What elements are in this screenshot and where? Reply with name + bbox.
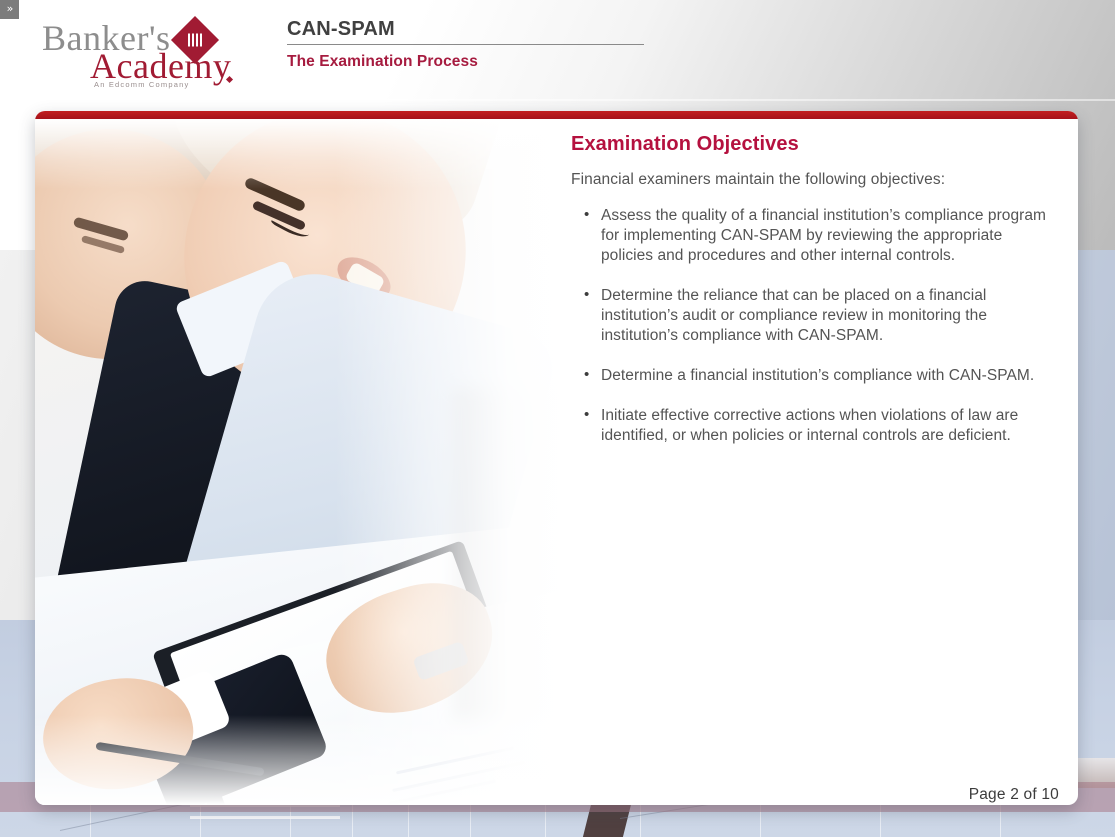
- list-item: Initiate effective corrective actions wh…: [571, 406, 1051, 446]
- objectives-list: Assess the quality of a financial instit…: [571, 206, 1051, 446]
- page-header: Banker's Academy An Edcomm Company CAN-S…: [0, 0, 1115, 100]
- content-heading: Examination Objectives: [571, 133, 1051, 156]
- page-indicator: Page 2 of 10: [969, 786, 1059, 804]
- logo-tagline: An Edcomm Company: [94, 80, 189, 89]
- content-intro-text: Financial examiners maintain the followi…: [571, 171, 1051, 189]
- course-title: CAN-SPAM: [287, 18, 647, 41]
- slide-photograph: [35, 119, 575, 805]
- slide-content: Examination Objectives Financial examine…: [571, 133, 1051, 466]
- title-divider: [287, 44, 644, 45]
- list-item: Determine the reliance that can be place…: [571, 286, 1051, 346]
- list-item: Determine a financial institution’s comp…: [571, 366, 1051, 386]
- bankers-academy-logo: Banker's Academy An Edcomm Company: [42, 17, 242, 89]
- header-title-group: CAN-SPAM The Examination Process: [287, 18, 647, 71]
- expand-panel-icon[interactable]: »: [0, 0, 19, 19]
- slide-panel: Examination Objectives Financial examine…: [35, 111, 1078, 805]
- slide-top-accent-bar: [35, 111, 1078, 119]
- module-title: The Examination Process: [287, 53, 647, 71]
- list-item: Assess the quality of a financial instit…: [571, 206, 1051, 266]
